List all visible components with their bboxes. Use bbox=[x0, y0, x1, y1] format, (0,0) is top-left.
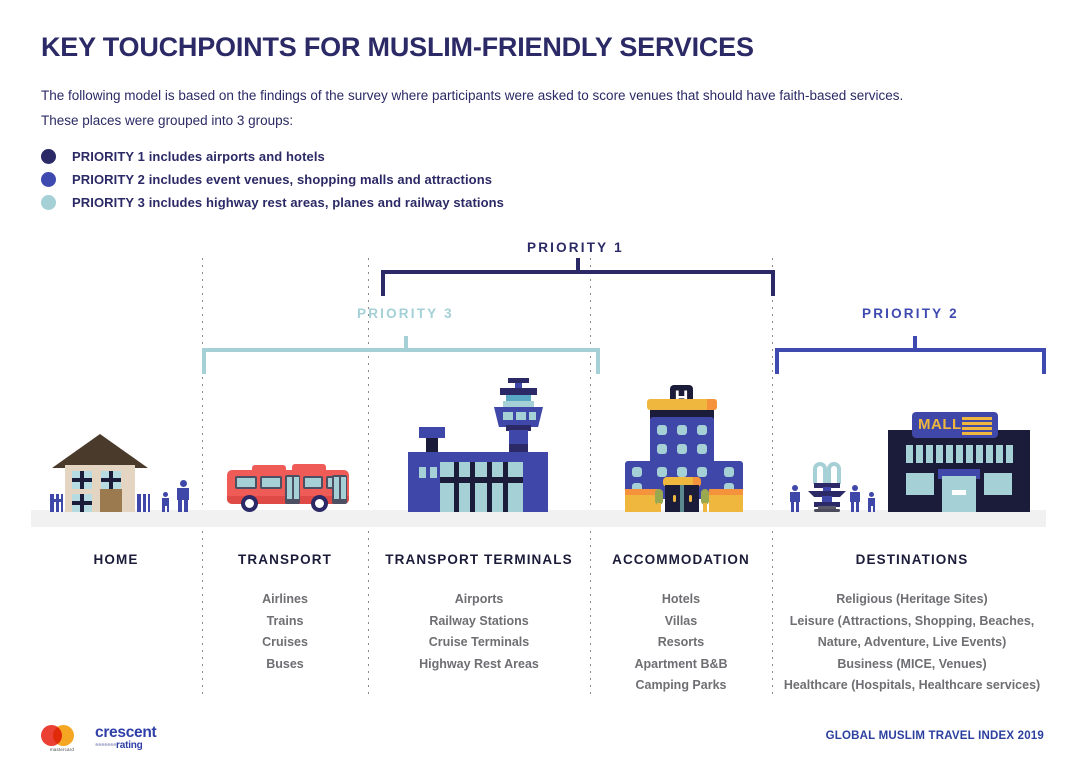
column-divider-4 bbox=[772, 258, 773, 695]
bus-wheel-rear-hub bbox=[315, 499, 324, 508]
list-item: Cruise Terminals bbox=[370, 632, 588, 654]
terminal-small-window-1 bbox=[419, 467, 426, 478]
footer-logos: mastercard crescent •••••••rating bbox=[41, 723, 156, 753]
bracket-bar-priority-2 bbox=[775, 348, 1046, 352]
list-item: Healthcare (Hospitals, Healthcare servic… bbox=[776, 675, 1048, 697]
person-body bbox=[790, 492, 800, 502]
house-fence-right-gap2 bbox=[146, 494, 148, 512]
terminal-mullion-v1 bbox=[454, 462, 459, 512]
intro-line-2: These places were grouped into 3 groups: bbox=[41, 113, 293, 128]
person-body bbox=[850, 492, 860, 502]
bracket-leg-left-priority-2 bbox=[775, 348, 779, 374]
hotel-window-t2 bbox=[677, 425, 687, 435]
house-fence-right bbox=[137, 494, 150, 512]
mall-louvre-8 bbox=[976, 445, 983, 463]
list-item: Camping Parks bbox=[592, 675, 770, 697]
column-header-destinations: DESTINATIONS bbox=[776, 552, 1048, 567]
list-item: Trains bbox=[204, 611, 366, 633]
mall-louvre-3 bbox=[926, 445, 933, 463]
list-item: Apartment B&B bbox=[592, 654, 770, 676]
person-leg-right bbox=[873, 506, 876, 512]
hotel-awning-left-body bbox=[625, 495, 659, 512]
bracket-bar-priority-1 bbox=[381, 270, 775, 274]
mall-louvre-2 bbox=[916, 445, 923, 463]
bus-door-rear-pane-r bbox=[341, 477, 346, 499]
person-adult-home bbox=[175, 480, 191, 512]
column-header-home: HOME bbox=[32, 552, 200, 567]
infographic-page: KEY TOUCHPOINTS FOR MUSLIM-FRIENDLY SERV… bbox=[0, 0, 1082, 760]
hotel-shrub-left-stem bbox=[657, 503, 661, 512]
person-body bbox=[177, 488, 189, 500]
list-item: Airports bbox=[370, 589, 588, 611]
person-leg-right bbox=[856, 502, 859, 512]
list-item: Religious (Heritage Sites) bbox=[776, 589, 1048, 611]
terminal-mullion-v2 bbox=[470, 462, 475, 512]
terminal-roof-box-neck bbox=[426, 438, 438, 452]
person-head bbox=[163, 492, 168, 497]
mall-sign-stripe-2 bbox=[962, 422, 992, 425]
hotel-window-t6 bbox=[697, 444, 707, 454]
person-leg-right bbox=[796, 502, 799, 512]
column-accommodation: ACCOMMODATION Hotels Villas Resorts Apar… bbox=[592, 552, 770, 697]
list-item: Highway Rest Areas bbox=[370, 654, 588, 676]
tower-deck-upper bbox=[503, 401, 534, 407]
column-divider-2 bbox=[368, 258, 369, 695]
house-fence-left-rail bbox=[50, 499, 63, 502]
tower-deck-window-3 bbox=[529, 412, 536, 420]
legend-label-priority-2: PRIORITY 2 includes event venues, shoppi… bbox=[72, 172, 492, 187]
airport-terminal-illustration bbox=[408, 378, 558, 512]
bus-door-rear-pane-l bbox=[334, 477, 339, 499]
terminal-mullion-v4 bbox=[503, 462, 508, 512]
list-item: Leisure (Attractions, Shopping, Beaches,… bbox=[776, 611, 1048, 654]
crescentrating-word-bottom: •••••••rating bbox=[95, 741, 156, 751]
mall-entrance-sign bbox=[952, 490, 966, 495]
person-leg-left bbox=[178, 500, 182, 512]
hotel-window-b1 bbox=[632, 467, 642, 477]
person-leg-left bbox=[868, 506, 871, 512]
person-head bbox=[852, 485, 858, 491]
house-fence-left bbox=[50, 494, 63, 512]
person-child-home bbox=[160, 492, 171, 512]
person-body bbox=[868, 498, 875, 506]
bracket-leg-right-priority-1 bbox=[771, 270, 775, 296]
fountain-ground bbox=[814, 509, 840, 512]
bus-illustration bbox=[219, 462, 354, 512]
crescentrating-word-top: crescent bbox=[95, 725, 156, 741]
fountain-water-left bbox=[813, 462, 827, 484]
column-list-transport: Airlines Trains Cruises Buses bbox=[204, 589, 366, 675]
column-terminals: TRANSPORT TERMINALS Airports Railway Sta… bbox=[370, 552, 588, 675]
mall-louvre-9 bbox=[986, 445, 993, 463]
column-transport: TRANSPORT Airlines Trains Cruises Buses bbox=[204, 552, 366, 675]
terminal-glass-wall bbox=[440, 462, 523, 512]
person-mid-destinations bbox=[848, 485, 862, 512]
legend-label-priority-3: PRIORITY 3 includes highway rest areas, … bbox=[72, 195, 504, 210]
hotel-window-b5 bbox=[724, 467, 734, 477]
mastercard-wordmark: mastercard bbox=[41, 747, 83, 752]
hotel-window-t4 bbox=[657, 444, 667, 454]
bracket-leg-right-priority-3 bbox=[596, 348, 600, 374]
mall-sign-stripe-1 bbox=[962, 417, 992, 420]
list-item: Hotels bbox=[592, 589, 770, 611]
house-door bbox=[100, 489, 122, 512]
bracket-leg-right-priority-2 bbox=[1042, 348, 1046, 374]
mall-sign-text: MALL bbox=[918, 415, 962, 435]
column-list-destinations: Religious (Heritage Sites) Leisure (Attr… bbox=[776, 589, 1048, 697]
legend-dot-priority-2 bbox=[41, 172, 56, 187]
legend-item-priority-3: PRIORITY 3 includes highway rest areas, … bbox=[41, 191, 504, 213]
legend-dot-priority-1 bbox=[41, 149, 56, 164]
hotel-window-t1 bbox=[657, 425, 667, 435]
hotel-window-b2 bbox=[657, 467, 667, 477]
bus-window-2 bbox=[260, 476, 282, 489]
mall-louvre-7 bbox=[966, 445, 973, 463]
house-fence-left-gap2 bbox=[59, 494, 61, 512]
column-divider-1 bbox=[202, 258, 203, 695]
hotel-shrub-right-stem bbox=[703, 503, 707, 512]
hotel-window-t3 bbox=[697, 425, 707, 435]
person-leg-right bbox=[167, 506, 170, 512]
terminal-mullion-h bbox=[440, 477, 523, 483]
intro-line-1: The following model is based on the find… bbox=[41, 88, 903, 103]
bracket-priority-3 bbox=[202, 336, 600, 376]
hotel-tower bbox=[650, 417, 714, 463]
bus-wheel-front-hub bbox=[245, 499, 254, 508]
bracket-label-priority-2: PRIORITY 2 bbox=[862, 306, 959, 321]
hotel-entrance-door-divider bbox=[680, 485, 684, 512]
person-leg-right bbox=[184, 500, 188, 512]
bracket-label-priority-3: PRIORITY 3 bbox=[357, 306, 454, 321]
person-left-destinations bbox=[788, 485, 802, 512]
page-title: KEY TOUCHPOINTS FOR MUSLIM-FRIENDLY SERV… bbox=[41, 32, 754, 63]
mall-sign-stripe-4 bbox=[962, 432, 992, 435]
house-fence-right-gap1 bbox=[141, 494, 143, 512]
house-window-bottom-left-bar-h bbox=[72, 501, 92, 505]
tower-shaft-base bbox=[509, 444, 528, 452]
hotel-window-b3 bbox=[677, 467, 687, 477]
bracket-leg-left-priority-1 bbox=[381, 270, 385, 296]
legend-dot-priority-3 bbox=[41, 195, 56, 210]
person-leg-left bbox=[162, 506, 165, 512]
person-body bbox=[162, 498, 169, 506]
house-window-top-right-bar-h bbox=[101, 478, 121, 482]
mall-illustration: MALL bbox=[888, 412, 1030, 512]
ground-strip bbox=[31, 510, 1046, 527]
mall-sign-stripe-3 bbox=[962, 427, 992, 430]
mall-window-left bbox=[906, 473, 934, 495]
list-item: Airlines bbox=[204, 589, 366, 611]
bus-window-1 bbox=[235, 476, 257, 489]
crescentrating-rating-text: rating bbox=[116, 740, 143, 751]
tower-wing bbox=[500, 388, 537, 395]
tower-deck-window-2 bbox=[516, 412, 526, 420]
hotel-illustration: H bbox=[625, 385, 745, 512]
tower-antenna-cap bbox=[508, 378, 529, 383]
bracket-priority-1 bbox=[381, 258, 775, 298]
crescentrating-logo: crescent •••••••rating bbox=[95, 725, 156, 752]
hotel-door-handle-r bbox=[689, 495, 692, 502]
legend-item-priority-1: PRIORITY 1 includes airports and hotels bbox=[41, 145, 504, 167]
column-header-terminals: TRANSPORT TERMINALS bbox=[370, 552, 588, 567]
column-divider-3 bbox=[590, 258, 591, 695]
house-illustration bbox=[44, 432, 194, 512]
fountain-water-right bbox=[827, 462, 841, 484]
person-head bbox=[869, 492, 874, 497]
column-header-transport: TRANSPORT bbox=[204, 552, 366, 567]
list-item: Railway Stations bbox=[370, 611, 588, 633]
terminal-small-window-2 bbox=[430, 467, 437, 478]
tower-deck-window-1 bbox=[503, 412, 513, 420]
list-item: Buses bbox=[204, 654, 366, 676]
fountain-illustration bbox=[786, 462, 881, 512]
hotel-window-b4 bbox=[697, 467, 707, 477]
house-fence-left-gap1 bbox=[54, 494, 56, 512]
column-destinations: DESTINATIONS Religious (Heritage Sites) … bbox=[776, 552, 1048, 697]
person-leg-left bbox=[851, 502, 854, 512]
column-home: HOME bbox=[32, 552, 200, 589]
house-window-top-left-bar-h bbox=[72, 478, 92, 482]
column-list-terminals: Airports Railway Stations Cruise Termina… bbox=[370, 589, 588, 675]
mall-louvre-5 bbox=[946, 445, 953, 463]
mastercard-logo-icon: mastercard bbox=[41, 723, 83, 753]
hotel-door-handle-l bbox=[673, 495, 676, 502]
legend-label-priority-1: PRIORITY 1 includes airports and hotels bbox=[72, 149, 325, 164]
bracket-bar-priority-3 bbox=[202, 348, 600, 352]
list-item: Cruises bbox=[204, 632, 366, 654]
list-item: Business (MICE, Venues) bbox=[776, 654, 1048, 676]
hotel-awning-right-body bbox=[709, 495, 743, 512]
column-list-accommodation: Hotels Villas Resorts Apartment B&B Camp… bbox=[592, 589, 770, 697]
person-leg-left bbox=[791, 502, 794, 512]
bracket-priority-2 bbox=[775, 336, 1046, 376]
terminal-roof-box-top bbox=[419, 427, 445, 438]
mastercard-circle-yellow bbox=[53, 725, 74, 746]
house-roof bbox=[52, 434, 148, 468]
bus-window-3 bbox=[303, 476, 323, 489]
mall-window-right bbox=[984, 473, 1012, 495]
mall-louvre-1 bbox=[906, 445, 913, 463]
column-header-accommodation: ACCOMMODATION bbox=[592, 552, 770, 567]
list-item: Villas bbox=[592, 611, 770, 633]
mall-louvre-6 bbox=[956, 445, 963, 463]
mall-louvre-11 bbox=[1006, 445, 1013, 463]
mall-louvre-10 bbox=[996, 445, 1003, 463]
bracket-leg-left-priority-3 bbox=[202, 348, 206, 374]
hotel-roof-awning-cap bbox=[707, 399, 717, 410]
person-right-destinations bbox=[866, 492, 877, 512]
legend-item-priority-2: PRIORITY 2 includes event venues, shoppi… bbox=[41, 168, 504, 190]
report-label: GLOBAL MUSLIM TRAVEL INDEX 2019 bbox=[826, 730, 1044, 742]
priority-legend: PRIORITY 1 includes airports and hotels … bbox=[41, 145, 504, 214]
terminal-mullion-v3 bbox=[487, 462, 492, 512]
crescentrating-dots: ••••••• bbox=[95, 740, 116, 751]
list-item: Resorts bbox=[592, 632, 770, 654]
bus-door-front-pane-r bbox=[294, 477, 299, 499]
bracket-label-priority-1: PRIORITY 1 bbox=[527, 240, 624, 255]
bus-door-front-pane-l bbox=[287, 477, 292, 499]
hotel-window-t5 bbox=[677, 444, 687, 454]
person-head bbox=[792, 485, 798, 491]
mall-louvre-4 bbox=[936, 445, 943, 463]
person-head bbox=[180, 480, 187, 487]
